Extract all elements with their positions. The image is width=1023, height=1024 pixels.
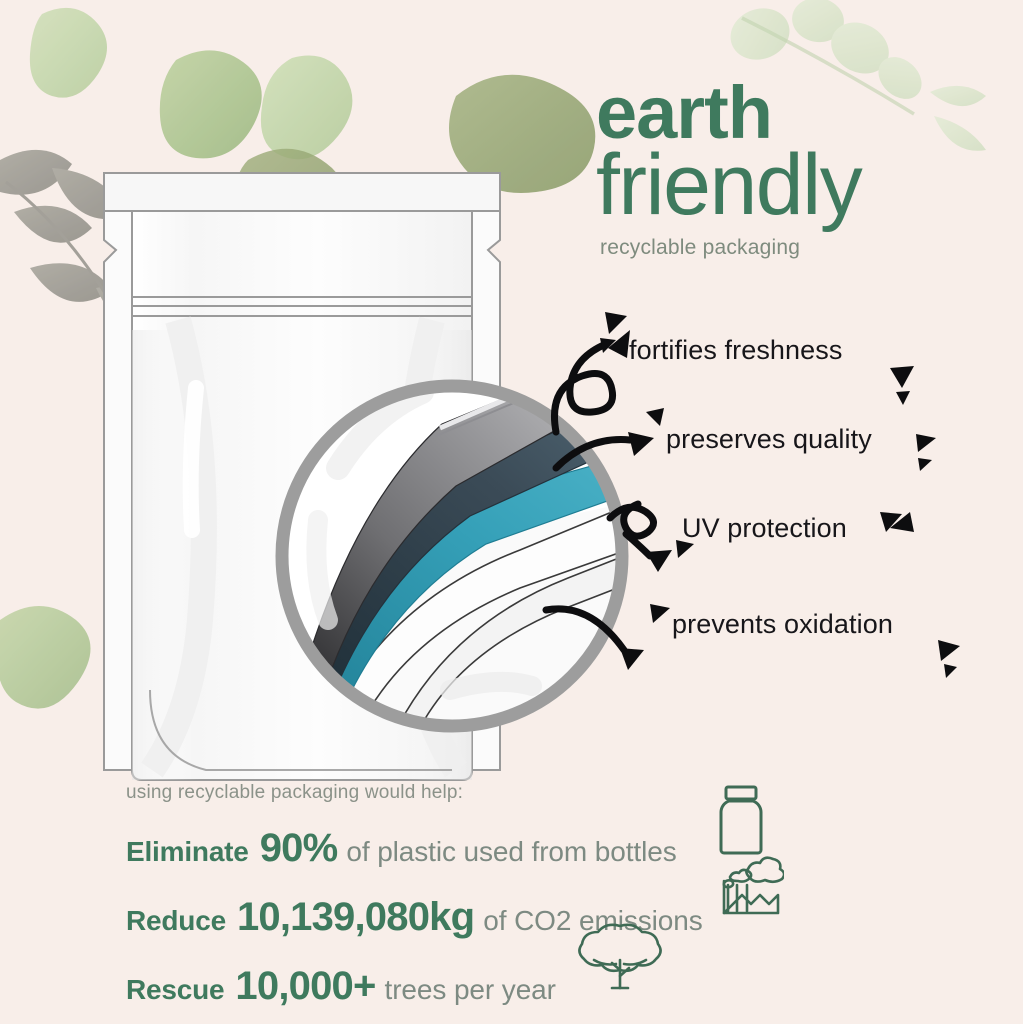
callout-prevents-oxidation: prevents oxidation (672, 609, 893, 640)
stat-verb: Reduce (126, 905, 226, 937)
stat-tail: of plastic used from bottles (346, 836, 676, 868)
headline-subtitle: recyclable packaging (596, 236, 1016, 260)
factory-icon (718, 855, 784, 917)
infographic-canvas: earth friendly recyclable packaging fort… (0, 0, 1023, 1024)
headline-block: earth friendly recyclable packaging (596, 78, 1016, 260)
callout-uv-protection: UV protection (682, 513, 847, 544)
stat-verb: Rescue (126, 974, 224, 1006)
stat-value: 10,000+ (235, 964, 375, 1009)
stats-intro: using recyclable packaging would help: (126, 782, 886, 804)
stat-row: Rescue 10,000+ trees per year (126, 964, 886, 1009)
headline-line-2: friendly (596, 142, 1016, 228)
stat-value: 90% (260, 826, 338, 871)
callout-fortifies-freshness: fortifies freshness (629, 335, 842, 366)
tree-icon (578, 920, 662, 992)
stat-verb: Eliminate (126, 836, 249, 868)
stat-value: 10,139,080kg (237, 895, 474, 940)
bottle-icon (710, 783, 772, 859)
callout-preserves-quality: preserves quality (666, 424, 872, 455)
stat-tail: trees per year (385, 974, 556, 1006)
